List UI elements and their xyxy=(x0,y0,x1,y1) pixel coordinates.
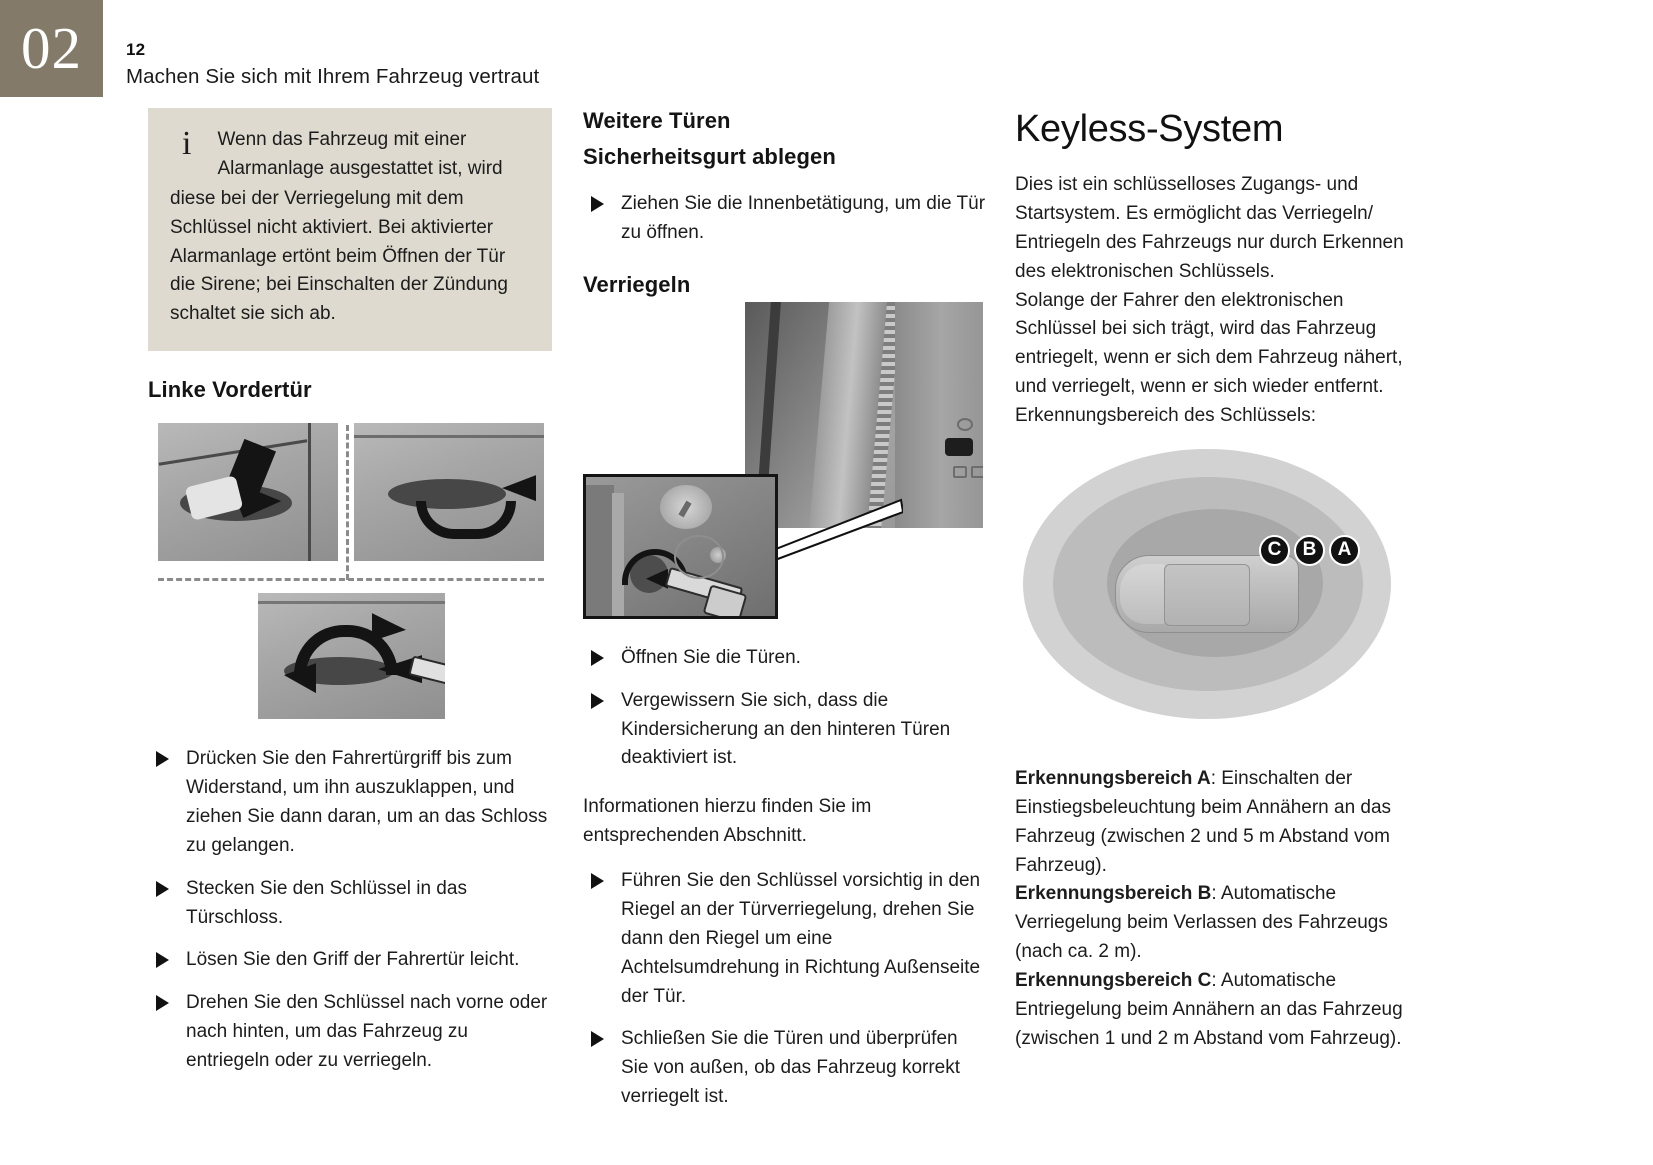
bullet-triangle-icon xyxy=(591,693,604,709)
bullet-triangle-icon xyxy=(156,995,169,1011)
zone-c-label: Erkennungsbereich C xyxy=(1015,970,1211,991)
list-item-text: Führen Sie den Schlüssel vorsichtig in d… xyxy=(621,870,980,1007)
arrow-curve-icon xyxy=(416,501,516,539)
list-item-text: Öffnen Sie die Türen. xyxy=(621,647,801,668)
badge-a: A xyxy=(1329,535,1360,566)
heading-linke-vordertuer: Linke Vordertür xyxy=(148,377,552,403)
photo-pull-handle xyxy=(354,423,544,561)
bullet-triangle-icon xyxy=(591,650,604,666)
figure-divider-horizontal xyxy=(158,578,544,581)
list-item: Führen Sie den Schlüssel vorsichtig in d… xyxy=(583,867,987,1011)
heading-sicherheitsgurt-ablegen: Sicherheitsgurt ablegen xyxy=(583,144,987,170)
list-item: Schließen Sie die Türen und überprüfen S… xyxy=(583,1025,987,1112)
bullet-triangle-icon xyxy=(156,751,169,767)
list-item-text: Stecken Sie den Schlüssel in das Türschl… xyxy=(186,878,467,928)
keyless-intro-paragraph-1: Dies ist ein schlüsselloses Zugangs- und… xyxy=(1015,171,1415,287)
zone-a-label: Erkennungsbereich A xyxy=(1015,768,1211,789)
car-top-view-icon xyxy=(1115,555,1299,633)
photo-door-frame xyxy=(745,302,983,528)
middle-column: Weitere Türen Sicherheitsgurt ablegen Zi… xyxy=(583,108,987,1128)
list-item: Öffnen Sie die Türen. xyxy=(583,644,987,673)
chapter-tab: 02 xyxy=(0,0,103,97)
list-item: Ziehen Sie die Innenbetätigung, um die T… xyxy=(583,190,987,248)
photo-turn-key xyxy=(258,593,445,719)
left-column: i Wenn das Fahrzeug mit einer Alarmanlag… xyxy=(148,108,552,1092)
heading-verriegeln: Verriegeln xyxy=(583,272,987,298)
info-note-first-lines: Wenn das Fahrzeug mit einer Alarmanlage … xyxy=(217,129,502,179)
zone-badges: C B A xyxy=(1259,535,1360,566)
car-hood xyxy=(1120,564,1166,624)
photo-lock-detail xyxy=(583,474,778,619)
zone-c-description: Erkennungsbereich C: Automatische Entrie… xyxy=(1015,967,1415,1054)
zone-a-description: Erkennungsbereich A: Einschalten der Ein… xyxy=(1015,765,1415,881)
list-item-text: Ziehen Sie die Innenbetätigung, um die T… xyxy=(621,193,985,243)
left-bullet-list: Drücken Sie den Fahrertürgriff bis zum W… xyxy=(148,745,552,1076)
badge-c: C xyxy=(1259,535,1290,566)
list-item-text: Drücken Sie den Fahrertürgriff bis zum W… xyxy=(186,748,547,856)
list-item: Lösen Sie den Griff der Fahrertür leicht… xyxy=(148,946,552,975)
figure-door-lock xyxy=(583,302,983,622)
page-number: 12 xyxy=(126,40,1026,60)
heading-keyless-system: Keyless-System xyxy=(1015,108,1415,151)
list-item: Drehen Sie den Schlüssel nach vorne oder… xyxy=(148,989,552,1076)
info-note-rest: diese bei der Verriegelung mit dem Schlü… xyxy=(170,184,532,329)
car-cabin xyxy=(1164,564,1250,626)
list-item-text: Vergewissern Sie sich, dass die Kindersi… xyxy=(621,690,950,769)
zone-b-label: Erkennungsbereich B xyxy=(1015,883,1211,904)
heading-weitere-tueren: Weitere Türen xyxy=(583,108,987,134)
bullet-triangle-icon xyxy=(591,873,604,889)
figure-keyless-zones: C B A xyxy=(1015,443,1415,725)
list-item: Vergewissern Sie sich, dass die Kindersi… xyxy=(583,687,987,774)
figure-divider-vertical xyxy=(346,425,349,580)
bullet-triangle-icon xyxy=(156,881,169,897)
badge-b: B xyxy=(1294,535,1325,566)
bullet-triangle-icon xyxy=(591,1031,604,1047)
page-title: Machen Sie sich mit Ihrem Fahrzeug vertr… xyxy=(126,65,1026,89)
middle-bullet-list-1: Ziehen Sie die Innenbetätigung, um die T… xyxy=(583,190,987,248)
bullet-triangle-icon xyxy=(591,196,604,212)
middle-paragraph: Informationen hierzu finden Sie im entsp… xyxy=(583,793,987,851)
list-item-text: Drehen Sie den Schlüssel nach vorne oder… xyxy=(186,992,547,1071)
info-note-box: i Wenn das Fahrzeug mit einer Alarmanlag… xyxy=(148,108,552,351)
bullet-triangle-icon xyxy=(156,952,169,968)
list-item: Drücken Sie den Fahrertürgriff bis zum W… xyxy=(148,745,552,861)
photo-push-handle xyxy=(158,423,338,561)
list-item-text: Schließen Sie die Türen und überprüfen S… xyxy=(621,1028,960,1107)
zone-b-description: Erkennungsbereich B: Automatische Verrie… xyxy=(1015,880,1415,967)
page-header: 12 Machen Sie sich mit Ihrem Fahrzeug ve… xyxy=(126,40,1026,89)
figure-front-left-door xyxy=(158,423,544,719)
info-icon: i xyxy=(170,126,217,160)
right-column: Keyless-System Dies ist ein schlüssellos… xyxy=(1015,108,1415,1054)
chapter-number: 02 xyxy=(21,19,82,78)
middle-bullet-list-3: Führen Sie den Schlüssel vorsichtig in d… xyxy=(583,867,987,1112)
middle-bullet-list-2: Öffnen Sie die Türen. Vergewissern Sie s… xyxy=(583,644,987,774)
list-item: Stecken Sie den Schlüssel in das Türschl… xyxy=(148,875,552,933)
keyless-intro-paragraph-2: Solange der Fahrer den elektronischen Sc… xyxy=(1015,287,1415,431)
list-item-text: Lösen Sie den Griff der Fahrertür leicht… xyxy=(186,949,519,970)
